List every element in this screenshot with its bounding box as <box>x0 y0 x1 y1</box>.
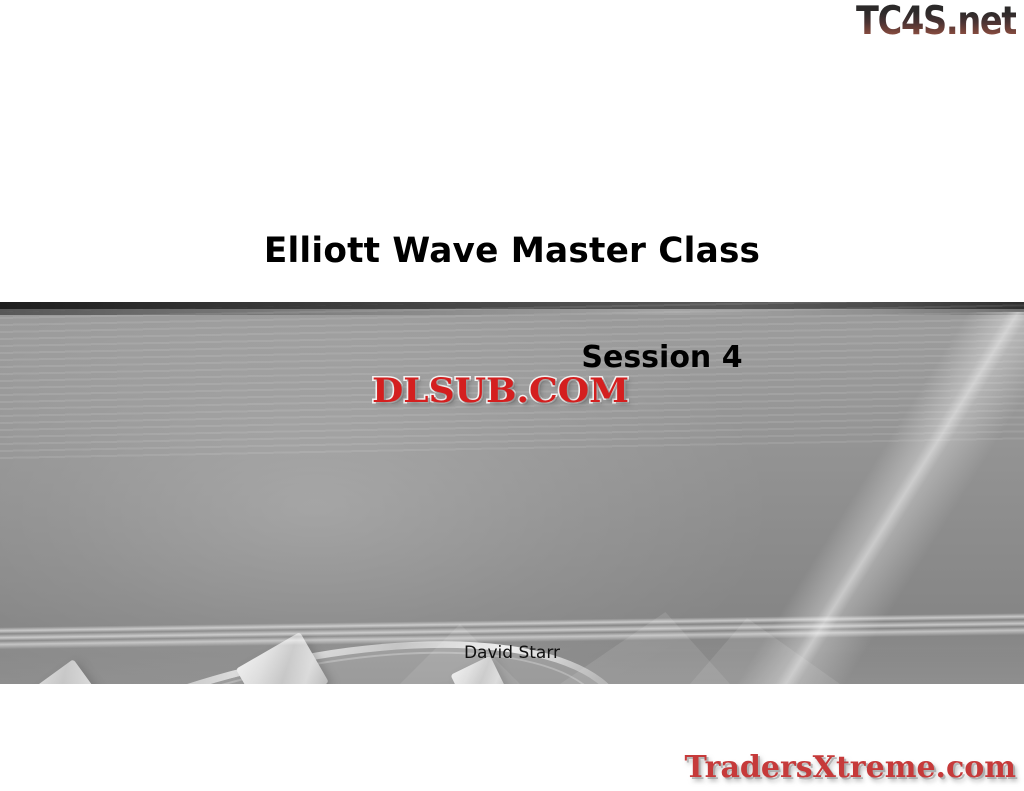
session-label: Session 4 <box>0 340 1024 375</box>
title-slide: TC4S.net Elliott Wave Master Class <box>0 0 1024 791</box>
dlsub-watermark: DLSUB.COM <box>372 374 629 408</box>
tc4s-site-logo[interactable]: TC4S.net <box>856 2 1016 41</box>
tradersxtreme-logo[interactable]: TradersXtreme.com <box>685 753 1016 783</box>
band-top-light-stripe <box>0 309 1024 315</box>
presenter-name: David Starr <box>0 643 1024 663</box>
band-top-dark-stripe <box>0 302 1024 309</box>
page-title: Elliott Wave Master Class <box>10 231 1014 271</box>
